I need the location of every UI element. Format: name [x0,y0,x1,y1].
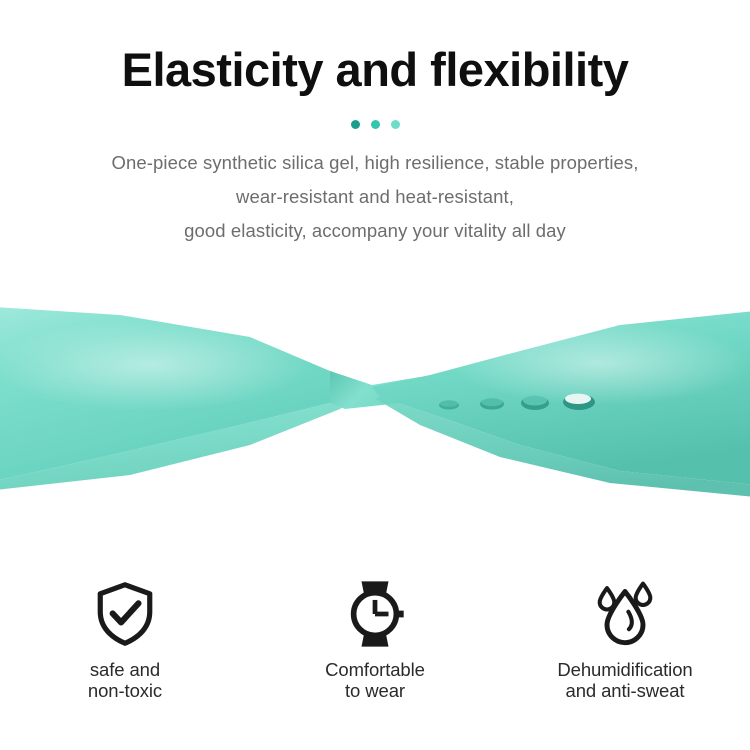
feature-item-comfortable-to-wear: Comfortable to wear [250,578,500,708]
twisted-band-illustration [0,285,750,510]
description-line-3: good elasticity, accompany your vitality… [0,214,750,248]
feature-caption-dehumidification: Dehumidification and anti-sweat [557,659,692,701]
page-title: Elasticity and flexibility [0,44,750,96]
description-text: One-piece synthetic silica gel, high res… [0,146,750,248]
shield-check-icon [89,578,161,650]
feature-caption-line-1: safe and [88,659,162,680]
adjustment-hole-1-inner [440,400,458,407]
feature-item-dehumidification: Dehumidification and anti-sweat [500,578,750,708]
dot-2-icon [371,120,380,129]
band-highlight-right [450,321,750,405]
feature-row: safe and non-toxic [0,578,750,708]
feature-caption-comfortable-to-wear: Comfortable to wear [325,659,425,701]
feature-item-safe-non-toxic: safe and non-toxic [0,578,250,708]
feature-caption-line-1: Comfortable [325,659,425,680]
feature-caption-line-2: non-toxic [88,680,162,701]
dot-3-icon [391,120,400,129]
water-drops-icon [589,578,661,650]
product-feature-page: Elasticity and flexibility One-piece syn… [0,0,750,750]
feature-caption-safe-non-toxic: safe and non-toxic [88,659,162,701]
dot-separator [0,120,750,129]
feature-caption-line-2: to wear [325,680,425,701]
adjustment-hole-3-inner [523,396,547,406]
product-image [0,285,750,510]
adjustment-hole-4-highlight [565,394,591,404]
description-line-2: wear-resistant and heat-resistant, [0,180,750,214]
band-highlight-left [0,319,310,411]
wristwatch-icon [339,578,411,650]
feature-caption-line-2: and anti-sweat [557,680,692,701]
dot-1-icon [351,120,360,129]
description-line-1: One-piece synthetic silica gel, high res… [0,146,750,180]
adjustment-hole-2-inner [482,398,503,406]
feature-caption-line-1: Dehumidification [557,659,692,680]
